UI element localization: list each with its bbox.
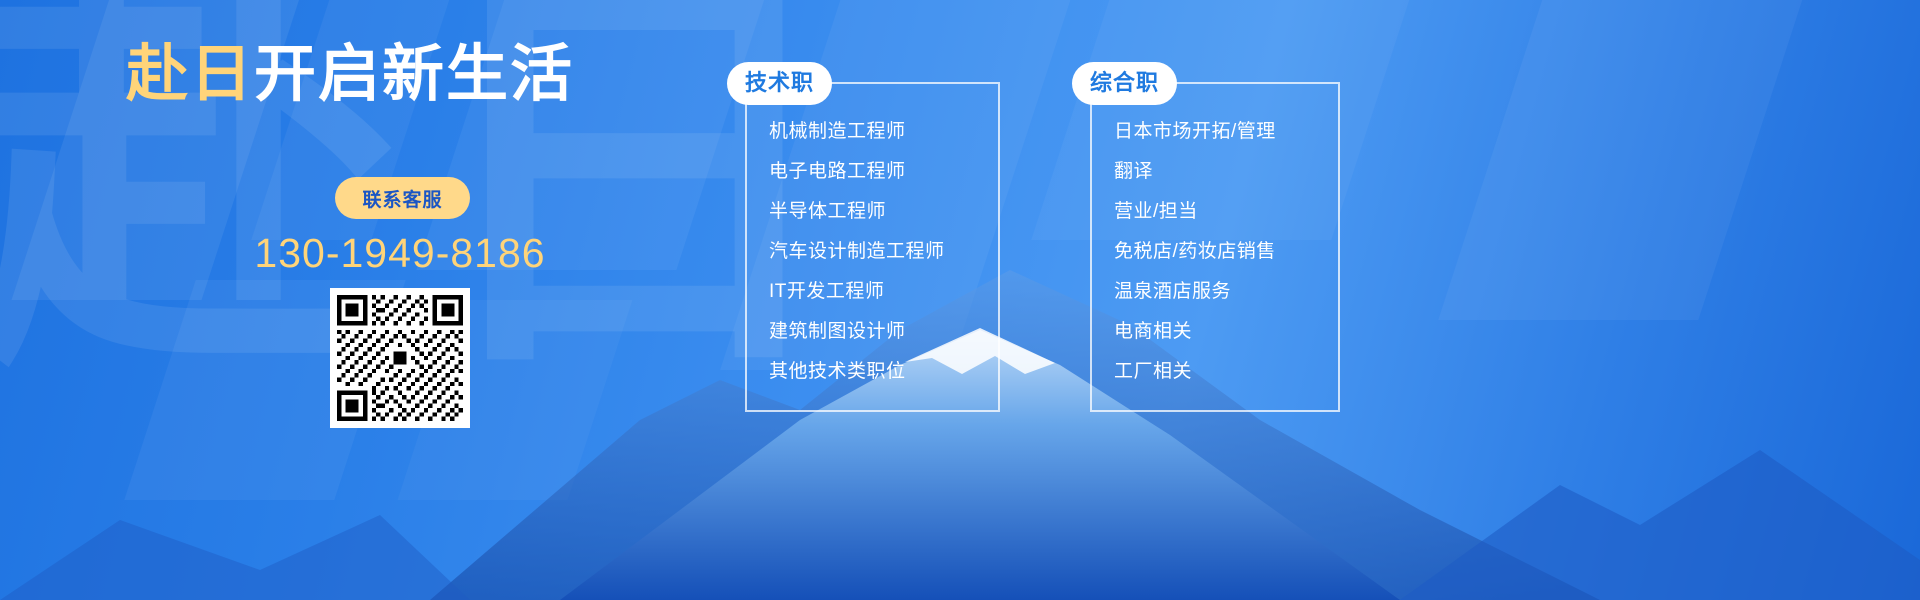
list-item[interactable]: 日本市场开拓/管理 <box>1114 112 1444 152</box>
list-item[interactable]: 汽车设计制造工程师 <box>769 232 1099 272</box>
list-item[interactable]: 温泉酒店服务 <box>1114 272 1444 312</box>
list-item[interactable]: IT开发工程师 <box>769 272 1099 312</box>
page-title: 赴日开启新生活 <box>0 44 700 106</box>
list-item[interactable]: 翻译 <box>1114 152 1444 192</box>
list-item[interactable]: 电子电路工程师 <box>769 152 1099 192</box>
list-item[interactable]: 电商相关 <box>1114 312 1444 352</box>
qr-code-image <box>337 295 463 421</box>
general-jobs-list: 日本市场开拓/管理 翻译 营业/担当 免税店/药妆店销售 温泉酒店服务 电商相关… <box>1114 112 1444 392</box>
left-content-column: 赴日开启新生活 联系客服 130-1949-8186 <box>0 0 700 600</box>
tech-jobs-panel: 技术职 机械制造工程师 电子电路工程师 半导体工程师 汽车设计制造工程师 IT开… <box>745 82 1000 412</box>
contact-service-button[interactable]: 联系客服 <box>335 177 470 219</box>
wechat-qr-code[interactable] <box>330 288 470 428</box>
diagonal-stripe <box>1438 0 1821 320</box>
list-item[interactable]: 工厂相关 <box>1114 352 1444 392</box>
list-item[interactable]: 营业/担当 <box>1114 192 1444 232</box>
general-jobs-panel-title: 综合职 <box>1072 62 1177 105</box>
headline-plain-text: 开启新生活 <box>254 40 574 109</box>
list-item[interactable]: 半导体工程师 <box>769 192 1099 232</box>
list-item[interactable]: 建筑制图设计师 <box>769 312 1099 352</box>
promo-banner: 赴日 <box>0 0 1920 600</box>
list-item[interactable]: 其他技术类职位 <box>769 352 1099 392</box>
general-jobs-panel: 综合职 日本市场开拓/管理 翻译 营业/担当 免税店/药妆店销售 温泉酒店服务 … <box>1090 82 1340 412</box>
tech-jobs-list: 机械制造工程师 电子电路工程师 半导体工程师 汽车设计制造工程师 IT开发工程师… <box>769 112 1099 392</box>
list-item[interactable]: 机械制造工程师 <box>769 112 1099 152</box>
tech-jobs-panel-title: 技术职 <box>727 62 832 105</box>
phone-number: 130-1949-8186 <box>0 230 800 277</box>
headline-accent-text: 赴日 <box>126 40 254 109</box>
list-item[interactable]: 免税店/药妆店销售 <box>1114 232 1444 272</box>
